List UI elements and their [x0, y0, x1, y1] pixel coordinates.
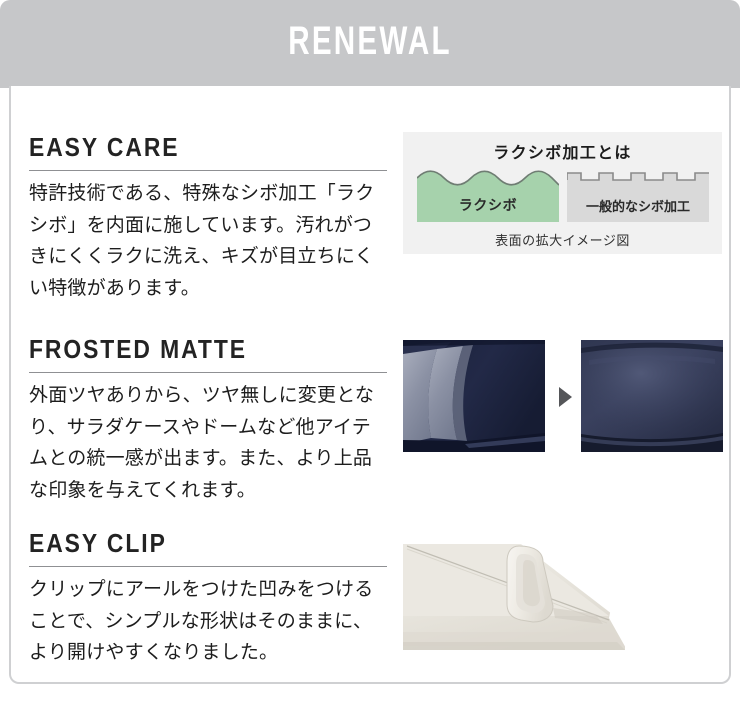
section-body-easy-care: 特許技術である、特殊なシボ加工「ラクシボ」を内面に施しています。汚れがつきにくく…	[29, 178, 389, 304]
swatch-standard-shibo: 一般的なシボ加工	[567, 166, 709, 222]
section-media-column	[403, 528, 723, 650]
section-text-column: FROSTED MATTE 外面ツヤありから、ツヤ無しに変更となり、サラダケース…	[29, 334, 389, 506]
section-heading-easy-clip: EASY CLIP	[29, 528, 346, 558]
section-heading-frosted-matte: FROSTED MATTE	[29, 334, 346, 364]
section-heading-easy-care: EASY CARE	[29, 132, 346, 162]
header-bar: RENEWAL	[0, 0, 740, 88]
before-after-photo-pair	[403, 334, 723, 456]
section-easy-clip: EASY CLIP クリップにアールをつけた凹みをつけることで、シンプルな形状は…	[11, 528, 733, 688]
glossy-navy-container-photo	[403, 340, 545, 452]
section-media-column	[403, 334, 723, 456]
swatch-label-standard-shibo: 一般的なシボ加工	[567, 196, 709, 215]
section-text-column: EASY CLIP クリップにアールをつけた凹みをつけることで、シンプルな形状は…	[29, 528, 389, 669]
swatch-label-laku-shibo: ラクシボ	[417, 195, 559, 215]
section-easy-care: EASY CARE 特許技術である、特殊なシボ加工「ラクシボ」を内面に施していま…	[11, 132, 733, 320]
heading-divider	[29, 566, 387, 567]
content-frame: EASY CARE 特許技術である、特殊なシボ加工「ラクシボ」を内面に施していま…	[9, 86, 731, 684]
section-body-frosted-matte: 外面ツヤありから、ツヤ無しに変更となり、サラダケースやドームなど他アイテムとの統…	[29, 380, 389, 506]
play-triangle-arrow	[555, 386, 575, 408]
page-title: RENEWAL	[96, 16, 644, 66]
heading-divider	[29, 372, 387, 373]
diagram-title: ラクシボ加工とは	[403, 139, 722, 163]
swatch-laku-shibo: ラクシボ	[417, 166, 559, 222]
section-body-easy-clip: クリップにアールをつけた凹みをつけることで、シンプルな形状はそのままに、より開け…	[29, 574, 389, 669]
diagram-caption: 表面の拡大イメージ図	[403, 230, 722, 249]
laku-shibo-diagram: ラクシボ加工とは ラクシボ	[403, 132, 722, 254]
section-text-column: EASY CARE 特許技術である、特殊なシボ加工「ラクシボ」を内面に施していま…	[29, 132, 389, 304]
section-frosted-matte: FROSTED MATTE 外面ツヤありから、ツヤ無しに変更となり、サラダケース…	[11, 334, 733, 522]
diagram-swatches: ラクシボ 一般的なシボ加工	[417, 166, 709, 222]
renewal-infographic-page: RENEWAL EASY CARE 特許技術である、特殊なシボ加工「ラクシボ」を…	[0, 0, 740, 703]
section-media-column: ラクシボ加工とは ラクシボ	[403, 132, 723, 254]
matte-navy-container-photo	[581, 340, 723, 452]
cream-lid-clip-closeup-photo	[403, 528, 723, 650]
heading-divider	[29, 170, 387, 171]
